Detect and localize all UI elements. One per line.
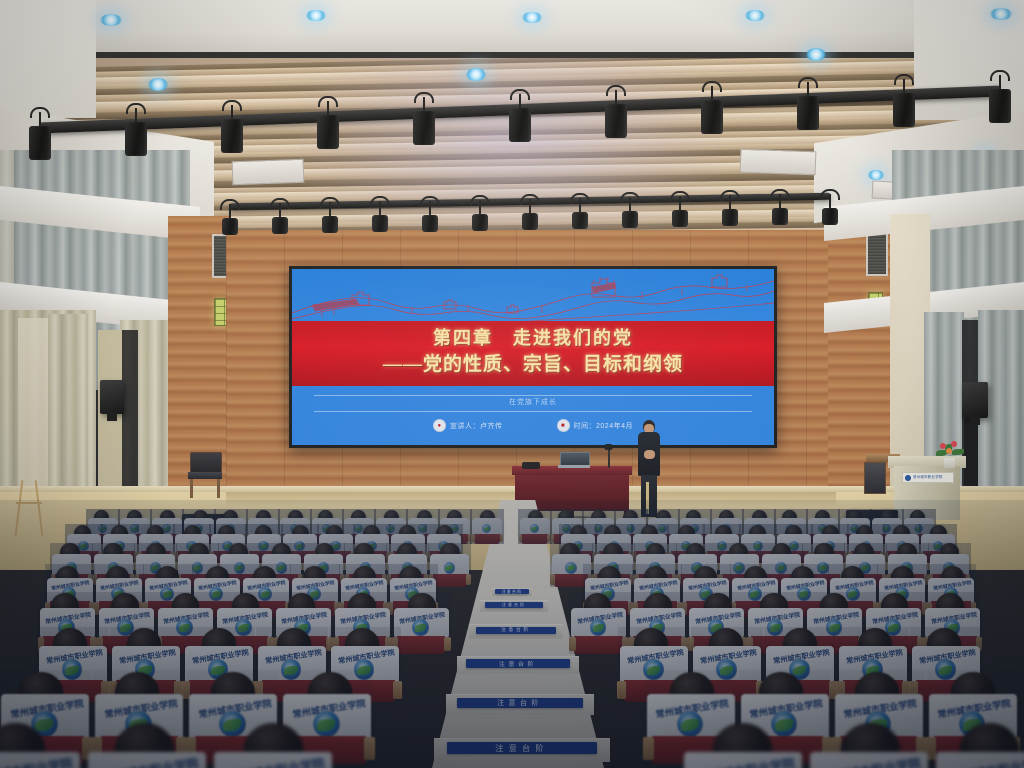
light-housing [317, 115, 339, 149]
light-housing [29, 126, 51, 160]
step-warning-label: 注意台阶 [495, 589, 529, 594]
college-emblem-icon [209, 587, 223, 601]
stage-par-light [989, 75, 1011, 125]
ceiling-soffit-left [0, 0, 96, 118]
slide-subtitle: 在党旗下成长 [292, 397, 774, 407]
stage-par-light [572, 198, 588, 231]
step-warning-label: 注意台阶 [447, 742, 597, 754]
ceiling-downlight [745, 10, 765, 21]
light-housing [797, 96, 819, 130]
seat-cover-institution-text: 常州城市职业学院 [225, 754, 326, 768]
auditorium-seat[interactable]: 常州城市职业学院 [936, 752, 1024, 768]
seat-cover: 常州城市职业学院 [781, 578, 827, 603]
seat-cover: 常州城市职业学院 [571, 608, 626, 637]
light-housing [222, 218, 238, 235]
stage-par-light [422, 201, 438, 234]
stage-par-light [322, 202, 338, 235]
college-emblem-icon [412, 619, 429, 636]
light-housing [522, 213, 538, 230]
light-housing [672, 210, 688, 227]
stage-par-light [472, 200, 488, 233]
college-emblem-icon [258, 541, 268, 551]
stage-par-light [622, 197, 638, 230]
wall-mounted-speaker-left [100, 380, 124, 414]
seat-cushion [433, 574, 467, 587]
college-emblem-icon [882, 524, 891, 533]
college-emblem-icon [176, 619, 193, 636]
seat-cover: 常州城市职业学院 [394, 608, 449, 637]
light-housing [605, 104, 627, 138]
stage-par-light [413, 97, 435, 147]
college-emblem-icon [234, 562, 246, 574]
auditorium-photo: 第四章 走进我们的党 ——党的性质、宗旨、目标和纲领 在党旗下成长 ● 宣讲人：… [0, 0, 1024, 768]
stage-par-light [701, 86, 723, 136]
slide-date-meta: ■ 时间：2024年4月 [557, 419, 633, 432]
stage-par-light [272, 203, 288, 236]
seat-cushion [397, 636, 445, 654]
college-emblem-icon [62, 659, 82, 679]
college-emblem-icon [717, 541, 727, 551]
college-emblem-icon [677, 711, 703, 737]
seat-cushion [574, 636, 622, 654]
college-emblem-icon [775, 562, 787, 574]
college-emblem-icon [817, 562, 829, 574]
seat-cover: 常州城市职业学院 [0, 752, 80, 768]
light-housing [572, 212, 588, 229]
seat-armrest-left [551, 534, 555, 542]
stage-par-light [522, 199, 538, 232]
light-housing [822, 208, 838, 225]
stage-par-light [221, 105, 243, 155]
stage-par-light [125, 108, 147, 158]
seat-cover [552, 554, 591, 575]
person-badge-icon: ● [433, 419, 446, 432]
college-emblem-icon [160, 587, 174, 601]
college-emblem-icon [386, 524, 395, 533]
college-emblem-icon [643, 659, 663, 679]
slide-title-line2: ——党的性质、宗旨、目标和纲领 [292, 349, 774, 376]
slide-title-line1: 第四章 走进我们的党 [292, 324, 774, 350]
seat-armrest-right [466, 574, 471, 585]
equipment-case [522, 462, 540, 469]
college-emblem-icon [771, 711, 797, 737]
stage-par-light [222, 204, 238, 237]
college-emblem-icon [281, 659, 301, 679]
college-emblem-icon [748, 587, 762, 601]
auditorium-seat[interactable]: 常州城市职业学院 [0, 752, 80, 768]
seat-armrest-right [364, 737, 375, 759]
stage-par-light [797, 82, 819, 132]
wall-mounted-speaker-right [962, 382, 988, 418]
seat-armrest-left [550, 574, 555, 585]
auditorium-seat[interactable]: 常州城市职业学院 [214, 752, 332, 768]
seat-cushion [554, 574, 588, 587]
light-housing [322, 216, 338, 233]
seat-armrest-right [393, 681, 401, 699]
seat-cover-institution-text: 常州城市职业学院 [695, 754, 796, 768]
college-emblem-icon [482, 524, 491, 533]
slide-speaker-meta: ● 宣讲人：卢齐传 [433, 419, 503, 432]
stage-par-light [822, 194, 838, 227]
auditorium-seat[interactable] [520, 518, 550, 544]
auditorium-seat[interactable] [430, 554, 469, 587]
light-housing [422, 215, 438, 232]
slide-meta-row: ● 宣讲人：卢齐传 ■ 时间：2024年4月 [292, 419, 774, 432]
podium-plate-text: 常州城市职业学院 [913, 475, 943, 480]
college-emblem-icon [219, 711, 245, 737]
college-emblem-icon [565, 562, 577, 574]
light-housing [221, 119, 243, 153]
seat-armrest-right [444, 637, 451, 652]
college-emblem-icon [258, 587, 272, 601]
college-emblem-icon [130, 524, 139, 533]
ceiling-ac-vent [232, 159, 305, 185]
college-emblem-icon [905, 475, 911, 481]
college-emblem-icon [846, 587, 860, 601]
college-emblem-icon [444, 562, 456, 574]
college-emblem-icon [530, 524, 539, 533]
led-screen-content: 第四章 走进我们的党 ——党的性质、宗旨、目标和纲领 在党旗下成长 ● 宣讲人：… [292, 269, 774, 445]
auditorium-seat[interactable]: 常州城市职业学院 [684, 752, 802, 768]
stage-side-chair [188, 452, 222, 498]
ceiling-downlight [990, 8, 1012, 20]
college-emblem-icon [276, 562, 288, 574]
stage-par-light [772, 194, 788, 227]
light-housing [701, 100, 723, 134]
college-emblem-icon [192, 562, 204, 574]
seat-cover: 常州城市职业学院 [88, 752, 206, 768]
seat-cover: 常州城市职业学院 [158, 608, 213, 637]
college-emblem-icon [658, 524, 667, 533]
college-emblem-icon [716, 659, 736, 679]
seat-cover: 常州城市职业学院 [810, 752, 928, 768]
slide-speaker-label: 宣讲人：卢齐传 [450, 421, 503, 431]
divider-top [314, 395, 752, 396]
stage-par-light [672, 196, 688, 229]
ceiling-ac-vent [740, 149, 817, 176]
college-emblem-icon [753, 541, 763, 551]
microphone-head [604, 444, 613, 450]
college-emblem-icon [733, 562, 745, 574]
seat-cover [430, 554, 469, 575]
podium-name-plate: 常州城市职业学院 [902, 472, 954, 483]
seat-cover: 常州城市职业学院 [807, 608, 862, 637]
college-emblem-icon [594, 524, 603, 533]
college-emblem-icon [626, 524, 635, 533]
auditorium-seat[interactable] [472, 518, 502, 544]
stage-par-light [372, 201, 388, 234]
divider-bottom [314, 411, 752, 412]
seat-armrest-left [519, 534, 523, 542]
ceiling-downlight [868, 170, 884, 180]
college-emblem-icon [914, 524, 923, 533]
slide-date-label: 时间：2024年4月 [574, 421, 633, 431]
auditorium-seat[interactable]: 常州城市职业学院 [571, 608, 626, 654]
seat-cover-institution-text: 常州城市职业学院 [821, 754, 922, 768]
seat-cover-institution-text: 常州城市职业学院 [0, 754, 73, 768]
light-housing [722, 209, 738, 226]
stage-par-light [605, 90, 627, 140]
ceiling-downlight [806, 48, 826, 61]
college-emblem-icon [294, 541, 304, 551]
light-housing [989, 89, 1011, 123]
ceiling-downlight [148, 78, 168, 91]
college-emblem-icon [767, 619, 784, 636]
stage-par-light [722, 195, 738, 228]
seat-cover: 常州城市职业学院 [936, 752, 1024, 768]
seat-armrest-left [617, 681, 625, 699]
seat-cover [472, 518, 502, 535]
ceiling-downlight [306, 10, 326, 21]
light-housing [472, 214, 488, 231]
step-warning-label: 注意台阶 [466, 659, 569, 668]
college-emblem-icon [797, 587, 811, 601]
audience-area: 注意台阶注意台阶注意台阶注意台阶注意台阶注意台阶 常州城市职业学院常州城市职业学… [0, 500, 1024, 768]
ceiling-white-panel [0, 0, 1024, 52]
light-housing [772, 208, 788, 225]
seat-cover-institution-text: 常州城市职业学院 [99, 754, 200, 768]
college-emblem-icon [935, 659, 955, 679]
ceiling-downlight [466, 68, 486, 81]
college-emblem-icon [826, 619, 843, 636]
stage-par-light [509, 94, 531, 144]
light-housing [372, 215, 388, 232]
college-emblem-icon [590, 619, 607, 636]
seat-armrest-left [569, 637, 576, 652]
seat-cushion [474, 534, 500, 544]
step-warning-label: 注意台阶 [476, 627, 556, 634]
college-emblem-icon [78, 541, 88, 551]
air-vent-grille-right [866, 230, 888, 276]
seat-cover: 常州城市职业学院 [214, 752, 332, 768]
seat-cushion [521, 534, 547, 544]
microphone-stand [608, 448, 610, 468]
light-housing [413, 111, 435, 145]
light-housing [509, 108, 531, 142]
college-emblem-icon [98, 524, 107, 533]
stage-par-light [317, 101, 339, 151]
step-warning-label: 注意台阶 [485, 602, 542, 607]
seat-armrest-left [471, 534, 475, 542]
seat-cover-institution-text: 常州城市职业学院 [947, 754, 1024, 768]
light-housing [622, 211, 638, 228]
flower-arrangement [932, 440, 966, 468]
seat-armrest-left [643, 737, 654, 759]
step-warning-label: 注意台阶 [457, 698, 583, 708]
stage-par-light [29, 112, 51, 162]
laptop-computer [558, 452, 590, 468]
light-housing [125, 122, 147, 156]
auditorium-seat[interactable]: 常州城市职业学院 [394, 608, 449, 654]
college-emblem-icon [354, 659, 374, 679]
ceiling-downlight [100, 14, 122, 26]
light-housing [272, 217, 288, 234]
calendar-badge-icon: ■ [557, 419, 570, 432]
ceiling-downlight [522, 12, 542, 23]
college-emblem-icon [418, 524, 427, 533]
seat-cover: 常州城市职业学院 [684, 752, 802, 768]
stage-par-light [893, 79, 915, 129]
seat-cover [520, 518, 550, 535]
light-housing [893, 93, 915, 127]
college-emblem-icon [313, 711, 339, 737]
college-emblem-icon [235, 619, 252, 636]
auditorium-seat[interactable]: 常州城市职业学院 [88, 752, 206, 768]
led-screen: 第四章 走进我们的党 ——党的性质、宗旨、目标和纲领 在党旗下成长 ● 宣讲人：… [289, 266, 777, 448]
auditorium-seat[interactable]: 常州城市职业学院 [810, 752, 928, 768]
